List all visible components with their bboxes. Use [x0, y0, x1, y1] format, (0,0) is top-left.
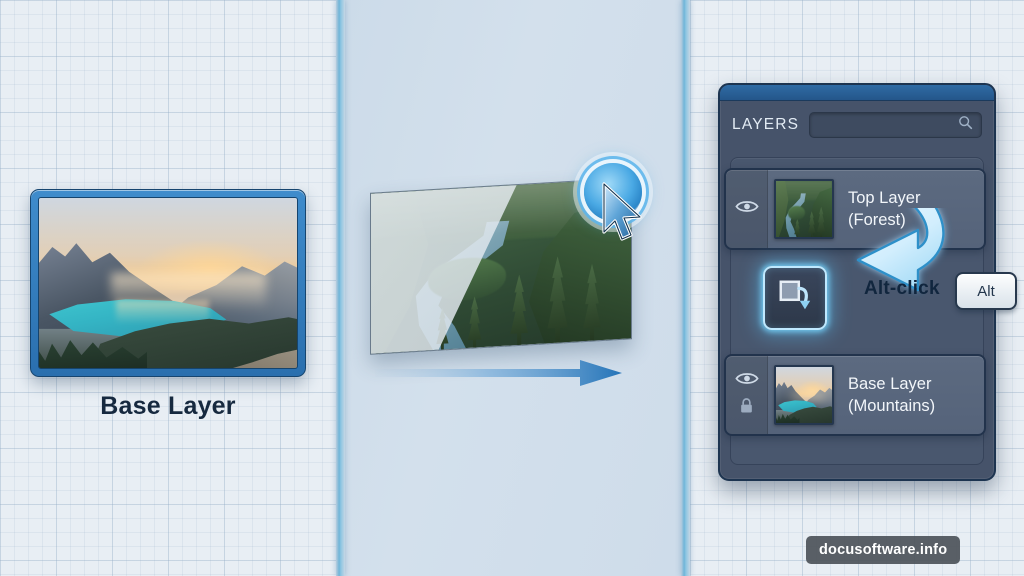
alt-click-callout-arrow	[800, 208, 1020, 328]
alt-click-label: Alt-click	[864, 278, 940, 300]
mountains-lake-sunset-photo	[39, 198, 297, 368]
eye-icon[interactable]	[735, 199, 759, 219]
section-divider-right	[681, 0, 690, 576]
alt-key-badge: Alt	[955, 272, 1017, 310]
base-layer-preview-card	[30, 189, 306, 377]
panel-header: LAYERS	[720, 101, 994, 149]
layer-row-base-layer[interactable]: Base Layer (Mountains)	[724, 354, 986, 436]
base-layer-caption: Base Layer	[30, 392, 306, 421]
page-title: LAYERS	[732, 116, 799, 134]
search-input[interactable]	[809, 112, 982, 138]
mouse-cursor	[601, 182, 647, 244]
layer-name-base-line2: (Mountains)	[848, 395, 984, 417]
progress-arrow	[375, 358, 623, 388]
base-layer-preview-image	[38, 197, 298, 369]
layer-thumbnail-base	[774, 365, 834, 425]
eye-icon[interactable]	[735, 371, 759, 391]
layer-name-base: Base Layer (Mountains)	[834, 356, 984, 434]
screenshot-root: Base Layer	[0, 0, 1024, 576]
panel-titlebar	[720, 85, 994, 101]
section-divider-left	[336, 0, 345, 576]
lock-icon[interactable]	[739, 397, 754, 419]
layer-toggles-top	[726, 170, 768, 248]
search-icon	[958, 115, 973, 135]
layer-toggles-base	[726, 356, 768, 434]
watermark: docusoftware.info	[806, 536, 960, 564]
layer-name-base-line1: Base Layer	[848, 373, 984, 395]
layer-name-top-line1: Top Layer	[848, 187, 984, 209]
